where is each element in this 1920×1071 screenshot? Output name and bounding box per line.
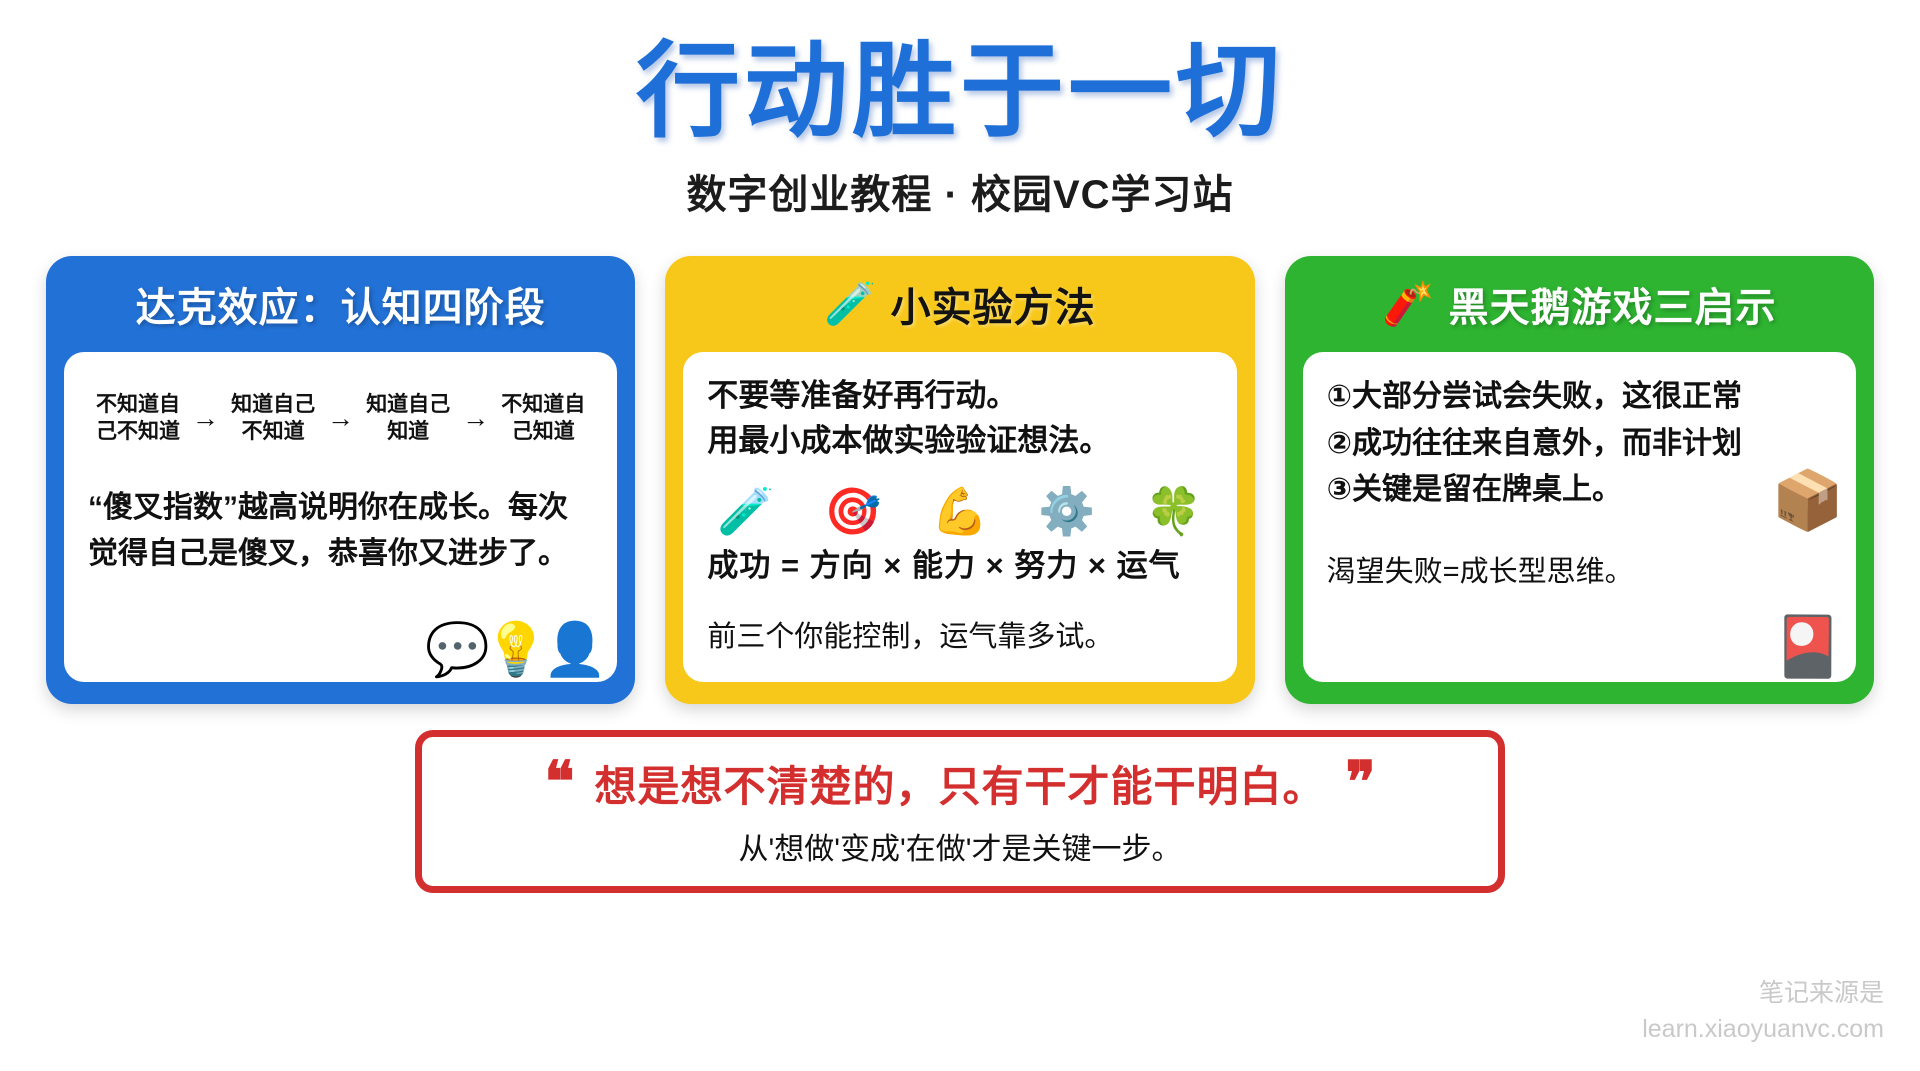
stage-1: 不知道自己不知道 (90, 392, 186, 445)
test-tube-icon: 🧪 (717, 488, 774, 534)
open-box-icon: 📦 (1772, 472, 1844, 530)
black-swan-item-3: ③关键是留在牌桌上。 (1327, 467, 1832, 514)
watermark: 笔记来源是 learn.xiaoyuanvc.com (1642, 975, 1884, 1048)
card-header-black-swan: 🧨 黑天鹅游戏三启示 (1285, 256, 1874, 352)
success-formula: 成功 = 方向 × 能力 × 努力 × 运气 (707, 540, 1212, 585)
quote-text: 想是想不清楚的，只有干才能干明白。 (594, 753, 1325, 814)
target-icon: 🎯 (824, 488, 881, 534)
muscle-icon: 💪 (931, 488, 988, 534)
watermark-url: learn.xiaoyuanvc.com (1642, 1011, 1884, 1047)
poker-table-icon: 🎴 (1772, 618, 1844, 676)
card-title-dunning-kruger: 达克效应：认知四阶段 (136, 275, 546, 333)
stage-2: 知道自己不知道 (225, 392, 321, 445)
quote-line: ❝ 想是想不清楚的，只有干才能干明白。 ❞ (452, 753, 1468, 814)
experiment-footnote: 前三个你能控制，运气靠多试。 (707, 613, 1212, 655)
stage-4: 不知道自己知道 (495, 392, 591, 445)
firecracker-icon: 🧨 (1382, 283, 1434, 325)
black-swan-footnote: 渴望失败=成长型思维。 (1327, 548, 1832, 590)
card-header-dunning-kruger: 达克效应：认知四阶段 (46, 256, 635, 352)
card-dunning-kruger: 达克效应：认知四阶段 不知道自己不知道 → 知道自己不知道 → 知道自己知道 →… (46, 256, 635, 704)
card-header-small-experiment: 🧪 小实验方法 (665, 256, 1254, 352)
card-title-black-swan: 黑天鹅游戏三启示 (1448, 275, 1776, 333)
stage-3: 知道自己知道 (360, 392, 456, 445)
card-row: 达克效应：认知四阶段 不知道自己不知道 → 知道自己不知道 → 知道自己知道 →… (0, 256, 1920, 704)
card-body-black-swan: ①大部分尝试会失败，这很正常 ②成功往往来自意外，而非计划 ③关键是留在牌桌上。… (1303, 352, 1856, 682)
arrow-icon-2: → (327, 403, 354, 434)
clover-icon: 🍀 (1145, 488, 1202, 534)
test-tube-icon: 🧪 (824, 283, 876, 325)
quote-box: ❝ 想是想不清楚的，只有干才能干明白。 ❞ 从'想做'变成'在做'才是关键一步。 (415, 730, 1505, 893)
experiment-lead-text: 不要等准备好再行动。 用最小成本做实验验证想法。 (707, 374, 1212, 464)
black-swan-item-2: ②成功往往来自意外，而非计划 (1327, 421, 1832, 468)
card-small-experiment: 🧪 小实验方法 不要等准备好再行动。 用最小成本做实验验证想法。 🧪 🎯 💪 ⚙… (665, 256, 1254, 704)
black-swan-item-1: ①大部分尝试会失败，这很正常 (1327, 374, 1832, 421)
card-body-dunning-kruger: 不知道自己不知道 → 知道自己不知道 → 知道自己知道 → 不知道自己知道 “傻… (64, 352, 617, 682)
dunning-kruger-note: “傻叉指数”越高说明你在成长。每次觉得自己是傻叉，恭喜你又进步了。 (88, 485, 593, 576)
formula-icon-row: 🧪 🎯 💪 ⚙️ 🍀 (717, 488, 1202, 534)
watermark-source-label: 笔记来源是 (1642, 975, 1884, 1011)
card-title-small-experiment: 小实验方法 (891, 275, 1096, 333)
arrow-icon-1: → (192, 403, 219, 434)
card-black-swan: 🧨 黑天鹅游戏三启示 ①大部分尝试会失败，这很正常 ②成功往往来自意外，而非计划… (1285, 256, 1874, 704)
page-title: 行动胜于一切 (0, 34, 1920, 150)
thinking-person-icon: 💬💡👤 (425, 624, 601, 676)
gear-icon: ⚙️ (1038, 488, 1095, 534)
quote-open-icon: ❝ (544, 764, 574, 803)
arrow-icon-3: → (462, 403, 489, 434)
cognition-stage-flow: 不知道自己不知道 → 知道自己不知道 → 知道自己知道 → 不知道自己知道 (88, 374, 593, 451)
page-header: 行动胜于一切 数字创业教程 · 校园VC学习站 (0, 0, 1920, 220)
page-subtitle: 数字创业教程 · 校园VC学习站 (0, 162, 1920, 220)
quote-subtext: 从'想做'变成'在做'才是关键一步。 (452, 824, 1468, 868)
card-body-small-experiment: 不要等准备好再行动。 用最小成本做实验验证想法。 🧪 🎯 💪 ⚙️ 🍀 成功 =… (683, 352, 1236, 682)
quote-close-icon: ❞ (1346, 764, 1376, 803)
